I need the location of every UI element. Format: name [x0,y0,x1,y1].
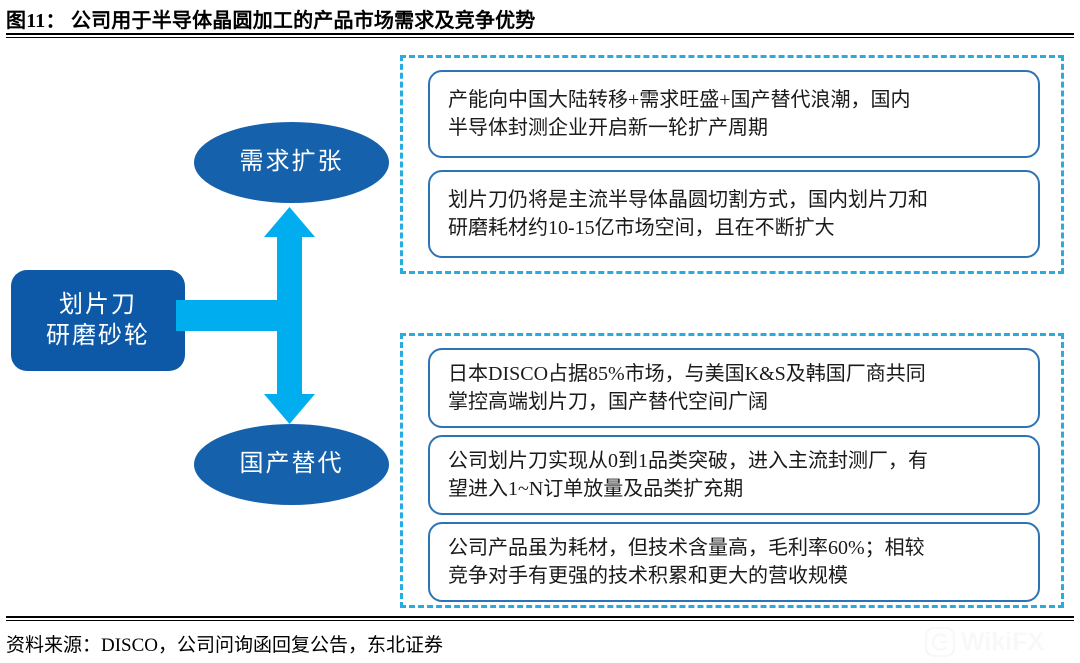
source-note: 资料来源：DISCO，公司问询函回复公告，东北证券 [6,630,443,657]
wikifx-logo-icon [925,627,955,657]
connector-arrow-icon [176,203,324,428]
statement-text: 划片刀仍将是主流半导体晶圆切割方式，国内划片刀和 研磨耗材约10-15亿市场空间… [430,186,942,243]
statement-text: 公司划片刀实现从0到1品类突破，进入主流封测厂，有 望进入1~N订单放量及品类扩… [430,447,942,504]
page-title: 图11： 公司用于半导体晶圆加工的产品市场需求及竞争优势 [6,4,536,33]
node-domestic-substitution-label: 国产替代 [240,449,344,480]
node-domestic-substitution: 国产替代 [194,424,389,505]
node-demand-expansion-label: 需求扩张 [240,147,344,178]
node-root-product: 划片刀 研磨砂轮 [11,270,185,371]
watermark-text: WikiFX [961,628,1044,657]
figure-title-bar: 图11： 公司用于半导体晶圆加工的产品市场需求及竞争优势 [6,2,1074,34]
statement-text: 产能向中国大陆转移+需求旺盛+国产替代浪潮，国内 半导体封测企业开启新一轮扩产周… [430,86,925,143]
statement-text: 公司产品虽为耗材，但技术含量高，毛利率60%；相较 竞争对手有更强的技术积累和更… [430,534,939,591]
statement-text: 日本DISCO占据85%市场，与美国K&S及韩国厂商共同 掌控高端划片刀，国产替… [430,360,940,417]
statement-box: 日本DISCO占据85%市场，与美国K&S及韩国厂商共同 掌控高端划片刀，国产替… [428,348,1040,428]
statement-box: 划片刀仍将是主流半导体晶圆切割方式，国内划片刀和 研磨耗材约10-15亿市场空间… [428,170,1040,258]
footer-divider [6,616,1074,621]
node-demand-expansion: 需求扩张 [194,122,389,203]
title-divider [6,33,1074,38]
statement-box: 产能向中国大陆转移+需求旺盛+国产替代浪潮，国内 半导体封测企业开启新一轮扩产周… [428,70,1040,158]
watermark: WikiFX [925,622,1075,662]
figure-canvas: 图11： 公司用于半导体晶圆加工的产品市场需求及竞争优势 划片刀 研磨砂轮 需求… [0,0,1080,663]
connector-t-double-arrow [176,203,324,428]
statement-box: 公司产品虽为耗材，但技术含量高，毛利率60%；相较 竞争对手有更强的技术积累和更… [428,522,1040,602]
node-root-label: 划片刀 研磨砂轮 [46,290,150,351]
statement-box: 公司划片刀实现从0到1品类突破，进入主流封测厂，有 望进入1~N订单放量及品类扩… [428,435,1040,515]
